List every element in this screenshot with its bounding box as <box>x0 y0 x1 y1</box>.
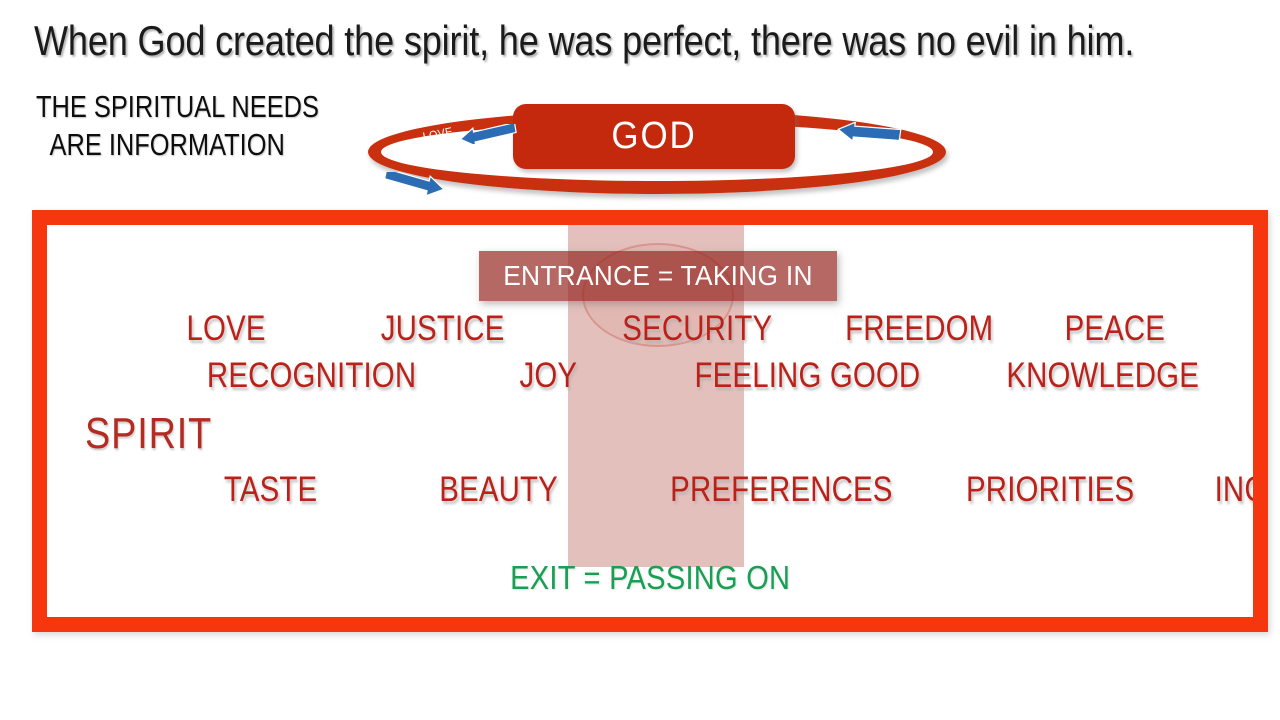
need-word: SECURITY <box>623 309 773 349</box>
need-word: PREFERENCES <box>671 470 893 510</box>
subtitle-block: THE SPIRITUAL NEEDS ARE INFORMATION <box>36 88 298 164</box>
need-word: FREEDOM <box>845 309 993 349</box>
need-word: KNOWLEDGE <box>1006 356 1199 396</box>
needs-row-1: LOVEJUSTICESECURITYFREEDOMPEACE <box>179 309 1239 349</box>
exit-label-text: EXIT = PASSING ON <box>510 559 790 597</box>
need-word: FEELING GOOD <box>694 356 920 396</box>
need-word: BEAUTY <box>440 470 559 510</box>
needs-row-3: TASTEBEAUTYPREFERENCESPRIORITIESINCLINAT… <box>215 470 1253 510</box>
god-box: GOD <box>513 104 795 169</box>
page-title: When God created the spirit, he was perf… <box>34 16 1100 66</box>
arrow-right-icon-word-of-god <box>378 172 450 198</box>
entrance-banner: ENTRANCE = TAKING IN <box>479 251 837 301</box>
need-word: RECOGNITION <box>207 356 416 396</box>
spirit-panel: ENTRANCE = TAKING IN SPIRIT LOVEJUSTICES… <box>32 210 1268 632</box>
need-word: PRIORITIES <box>966 470 1134 510</box>
need-word: JUSTICE <box>381 309 505 349</box>
arrow-left-icon-fruit <box>832 122 904 144</box>
needs-row-2: RECOGNITIONJOYFEELING GOODKNOWLEDGEETC. <box>187 356 1247 396</box>
need-word: INCLINATIONS <box>1214 470 1253 510</box>
arrow-left-icon-love <box>454 124 520 144</box>
need-word: TASTE <box>224 470 317 510</box>
subtitle-line-2: ARE INFORMATION <box>36 126 298 164</box>
spirit-panel-inner: ENTRANCE = TAKING IN SPIRIT LOVEJUSTICES… <box>47 225 1253 617</box>
entrance-banner-label: ENTRANCE = TAKING IN <box>490 251 827 301</box>
god-box-label: GOD <box>524 104 783 169</box>
need-word: JOY <box>520 356 578 396</box>
spirit-side-label: SPIRIT <box>85 409 212 459</box>
god-circulation-diagram: GOD LOVE FRUIT WORD OF GOD <box>360 100 960 212</box>
subtitle-line-1: THE SPIRITUAL NEEDS <box>36 88 298 126</box>
need-word: PEACE <box>1065 309 1166 349</box>
exit-label: EXIT = PASSING ON <box>47 559 1253 597</box>
need-word: LOVE <box>187 309 266 349</box>
